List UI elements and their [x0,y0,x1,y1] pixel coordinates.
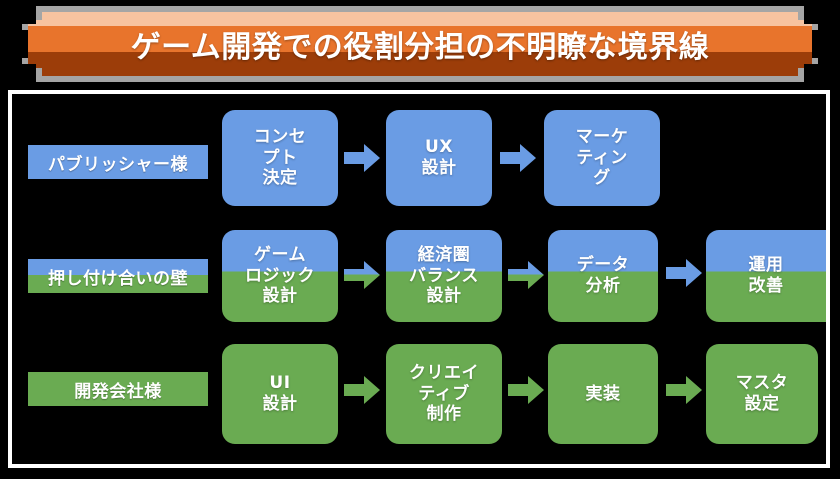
node-label: データ分析 [577,255,630,296]
node-data-analysis[interactable]: データ分析 [548,230,658,322]
node-label: コンセプト決定 [254,127,307,189]
arrow-row2-3 [666,258,702,288]
arrow-row3-1 [344,375,380,405]
node-label: 運用改善 [749,255,784,296]
title-banner: ゲーム開発での役割分担の不明瞭な境界線 [0,0,840,88]
node-master-settings[interactable]: マスタ設定 [706,344,818,444]
node-ui-design[interactable]: UI設計 [222,344,338,444]
node-concept-decision[interactable]: コンセプト決定 [222,110,338,206]
node-label: マーケティング [576,127,629,189]
page-title: ゲーム開発での役割分担の不明瞭な境界線 [0,0,840,88]
node-operation-improvement[interactable]: 運用改善 [706,230,826,322]
node-game-logic-design[interactable]: ゲームロジック設計 [222,230,338,322]
node-label: ゲームロジック設計 [245,245,315,307]
row-label-dev-company: 開発会社様 [28,372,208,406]
row-label-blame-wall: 押し付け合いの壁 [28,259,208,293]
row-label-publisher: パブリッシャー様 [28,145,208,179]
arrow-row2-1 [344,260,380,290]
slide-canvas: ゲーム開発での役割分担の不明瞭な境界線 パブリッシャー様 コンセプト決定 UX設… [0,0,840,479]
arrow-row3-2 [508,375,544,405]
node-label: 経済圏バランス設計 [409,245,479,307]
node-economy-balance-design[interactable]: 経済圏バランス設計 [386,230,502,322]
node-marketing[interactable]: マーケティング [544,110,660,206]
node-label: UX設計 [422,137,457,178]
node-ux-design[interactable]: UX設計 [386,110,492,206]
arrow-row3-3 [666,375,702,405]
node-implementation[interactable]: 実装 [548,344,658,444]
arrow-row2-2 [508,260,544,290]
node-creative-production[interactable]: クリエイティブ制作 [386,344,502,444]
node-label: 実装 [586,384,621,405]
node-label: マスタ設定 [736,373,789,414]
arrow-row1-1 [344,143,380,173]
arrow-row1-2 [500,143,536,173]
node-label: UI設計 [263,373,298,414]
node-label: クリエイティブ制作 [409,363,479,425]
